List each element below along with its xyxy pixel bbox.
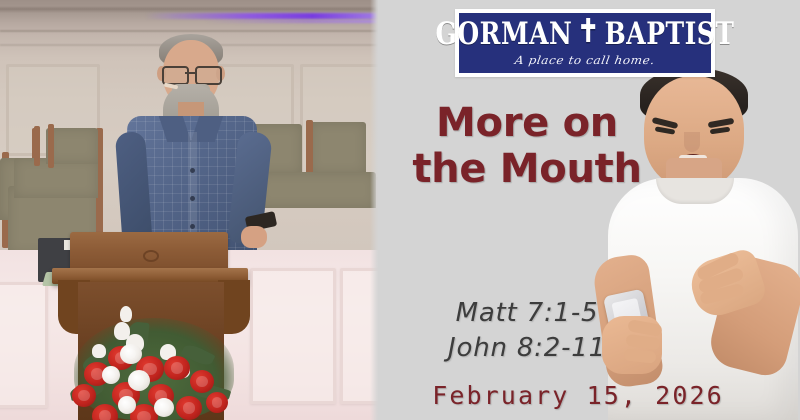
white-rose (128, 370, 150, 391)
white-flower (120, 306, 132, 322)
white-flower (92, 344, 106, 358)
chair-frame (34, 126, 40, 166)
scripture-reference-2: John 8:2-11 (402, 331, 652, 366)
logo-tagline: A place to call home. (514, 53, 656, 66)
scripture-reference-1: Matt 7:1-5 (402, 296, 652, 331)
choir-chair (14, 158, 98, 198)
white-rose (102, 366, 120, 384)
chair-frame (306, 120, 313, 178)
eyeglasses-icon (162, 66, 220, 81)
red-rose (72, 384, 96, 407)
preacher-figure (105, 28, 275, 258)
wainscot-panel (250, 268, 336, 404)
sermon-title-line-2: the Mouth (394, 146, 660, 192)
purple-accent-light (145, 13, 378, 19)
logo-inner-plate: GORMAN ✝ BAPTIST A place to call home. (459, 13, 711, 73)
logo-wordmark: GORMAN ✝ BAPTIST (436, 17, 735, 49)
sermon-info-panel: GORMAN ✝ BAPTIST A place to call home. M… (378, 0, 800, 420)
sermon-title: More on the Mouth (394, 100, 660, 193)
church-logo-banner: GORMAN ✝ BAPTIST A place to call home. (455, 9, 715, 77)
red-rose (206, 392, 228, 413)
pulpit-drawer-knob (143, 250, 159, 262)
chair-frame (48, 124, 54, 168)
sermon-date: February 15, 2026 (408, 381, 748, 410)
white-rose (118, 396, 136, 414)
flower-arrangement (64, 300, 244, 420)
red-rose (190, 370, 214, 393)
shirt-button (190, 168, 195, 173)
preacher-hand (241, 226, 267, 248)
wainscot-panel (0, 282, 48, 408)
shirt-button (190, 224, 195, 229)
sermon-title-line-1: More on (394, 100, 660, 146)
white-rose (154, 398, 174, 417)
sermon-slide: GORMAN ✝ BAPTIST A place to call home. M… (0, 0, 800, 420)
logo-word-baptist: BAPTIST (605, 17, 735, 48)
logo-word-gorman: GORMAN (436, 17, 573, 48)
man-nose (684, 132, 700, 152)
purple-accent-light-secondary (205, 20, 378, 23)
white-rose (120, 344, 142, 364)
red-rose (164, 356, 190, 380)
scripture-references: Matt 7:1-5 John 8:2-11 (402, 296, 652, 366)
red-rose (176, 396, 202, 420)
shirt-button (190, 196, 195, 201)
cross-icon: ✝ (577, 15, 599, 47)
preacher-at-pulpit-photo (0, 0, 378, 420)
choir-chair (258, 172, 376, 208)
choir-chair (310, 122, 366, 174)
